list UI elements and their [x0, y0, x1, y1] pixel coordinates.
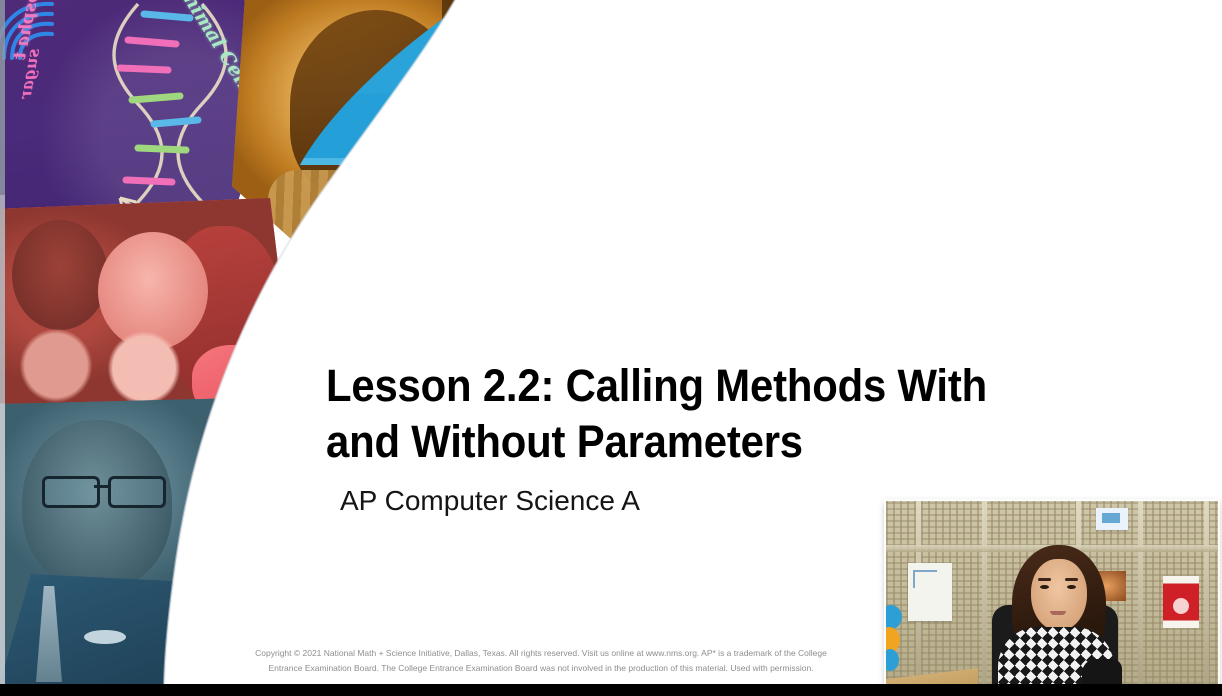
presenter-mouth — [1050, 611, 1066, 615]
cubicle-post — [982, 501, 987, 696]
cubicle-post — [1138, 501, 1143, 696]
copyright-line-1: Copyright © 2021 National Math + Science… — [196, 646, 886, 661]
balloon-decoration — [886, 605, 910, 671]
screen-bottom-bar — [0, 684, 1222, 696]
presenter-eye — [1067, 585, 1076, 589]
page-title: Lesson 2.2: Calling Methods With and Wit… — [326, 358, 1061, 470]
wall-flyer — [908, 563, 952, 621]
blue-photo-wings-pin — [84, 630, 126, 644]
blue-header-banner — [0, 0, 1222, 172]
cubicle-post — [1204, 501, 1209, 696]
gold-photo-plaid-shirt — [268, 170, 478, 310]
presenter-face — [1031, 559, 1087, 631]
presenter-video-overlay[interactable] — [886, 501, 1218, 696]
glasses-icon — [38, 476, 178, 504]
red-photo-face-left — [12, 220, 108, 330]
presenter-eyebrow — [1038, 578, 1051, 581]
slide-left-edge-strip — [0, 0, 5, 696]
copyright-line-2: Entrance Examination Board. The College … — [196, 661, 886, 676]
presenter-eye — [1040, 585, 1049, 589]
presenter-eyebrow — [1065, 578, 1078, 581]
wall-flyer — [1096, 508, 1128, 530]
presentation-slide: Minimal Cell phospha t sugar — [0, 0, 1222, 696]
title-block: Lesson 2.2: Calling Methods With and Wit… — [326, 358, 1116, 517]
copyright-footer: Copyright © 2021 National Math + Science… — [196, 646, 886, 676]
wall-poster-red — [1163, 576, 1199, 628]
